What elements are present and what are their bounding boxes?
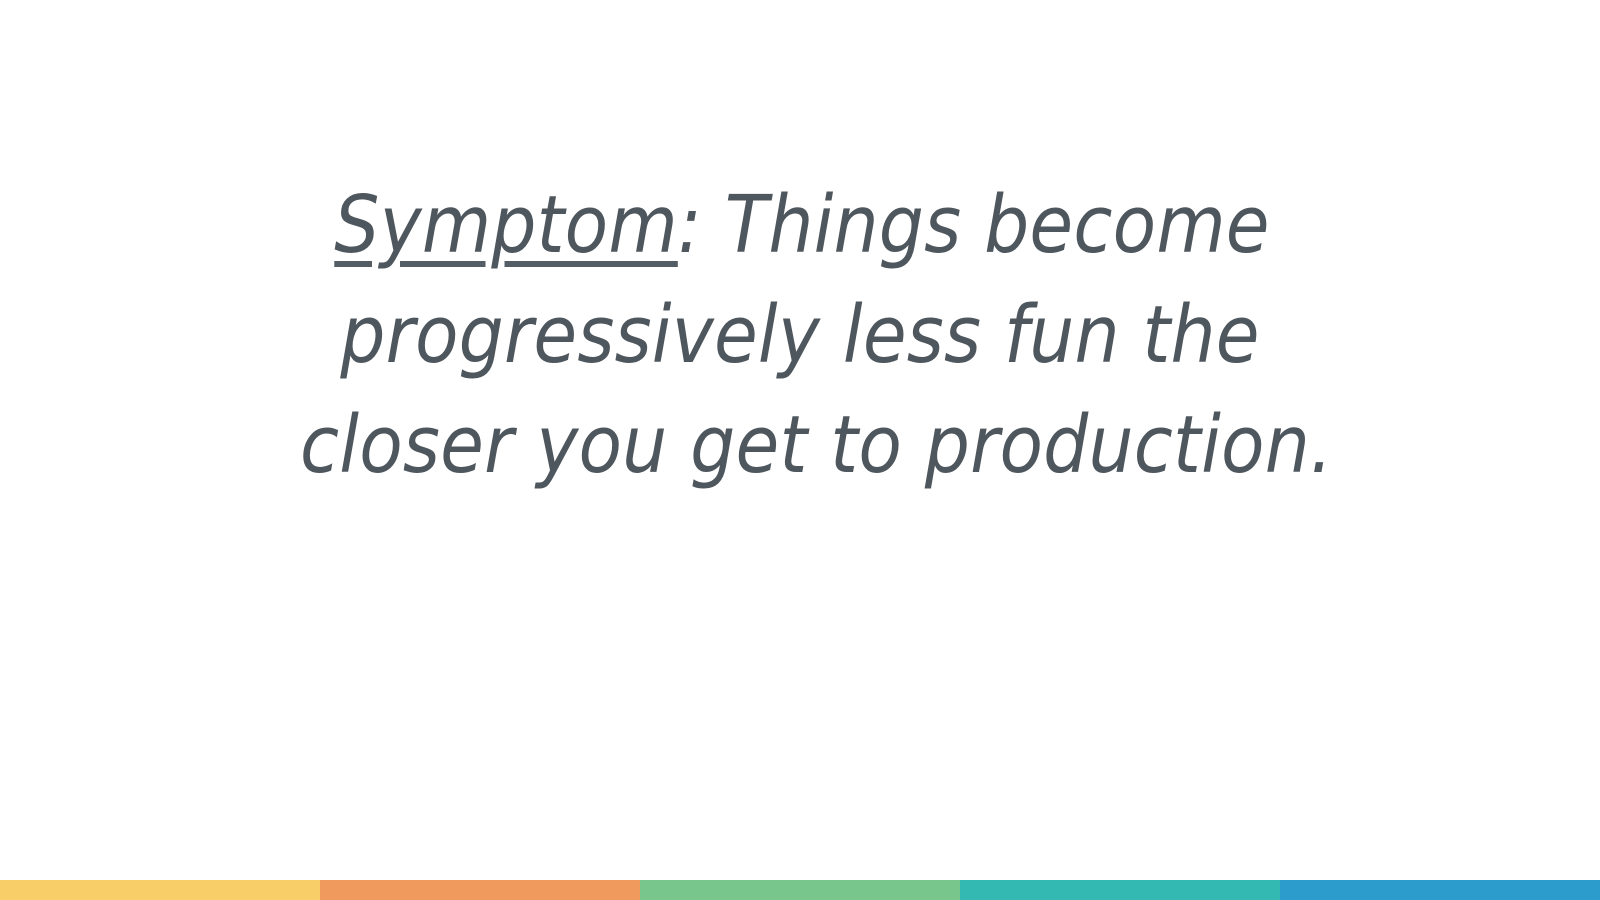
footer-segment-orange — [320, 880, 640, 900]
footer-segment-yellow — [0, 880, 320, 900]
quote-line-1: Symptom: Things become — [300, 170, 1300, 280]
quote-block: Symptom: Things become progressively les… — [300, 170, 1300, 500]
quote-line-3: closer you get to production. — [300, 390, 1300, 500]
footer-segment-teal — [960, 880, 1280, 900]
footer-segment-green — [640, 880, 960, 900]
presentation-slide: Symptom: Things become progressively les… — [0, 0, 1600, 900]
quote-line-1-rest: : Things become — [678, 179, 1270, 271]
footer-color-bar — [0, 880, 1600, 900]
emphasis-term-symptom: Symptom — [334, 179, 678, 271]
footer-segment-blue — [1280, 880, 1600, 900]
quote-line-2: progressively less fun the — [300, 280, 1300, 390]
